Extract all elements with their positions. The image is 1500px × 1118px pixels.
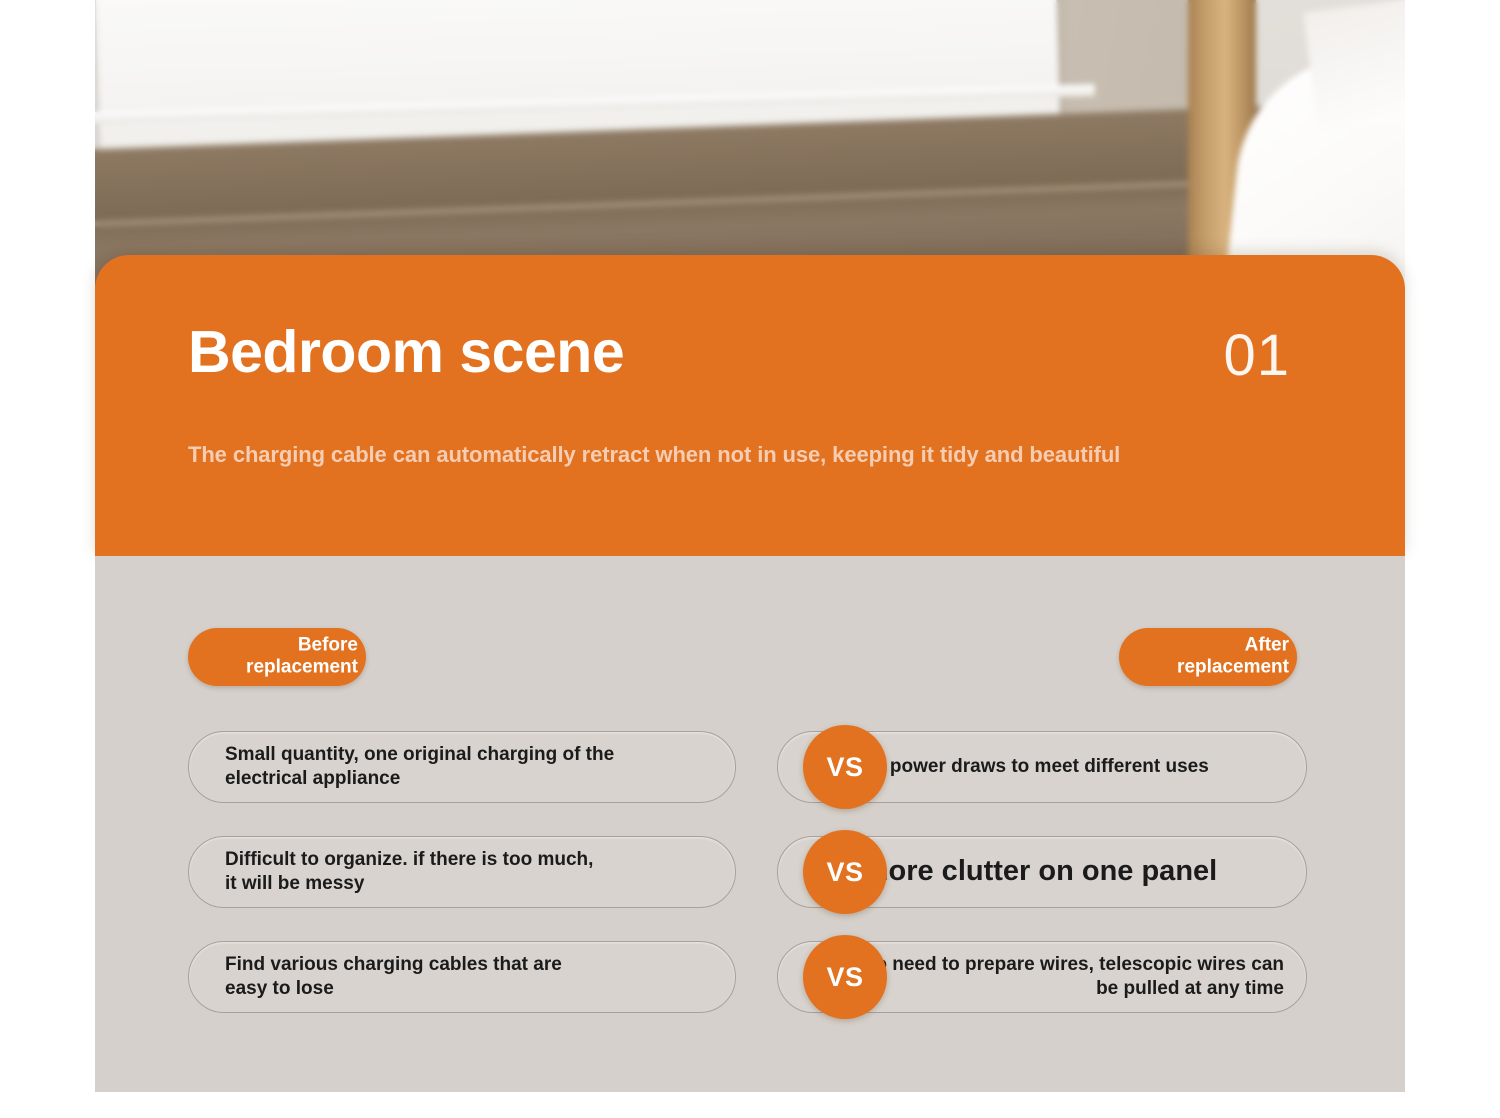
before-text: Small quantity, one original charging of…: [189, 743, 634, 792]
scene-number: 01: [1223, 327, 1290, 385]
photo-white-bedding: [1303, 0, 1405, 132]
comparison-row: Find various charging cables that are ea…: [95, 941, 1405, 1013]
comparison-row: Small quantity, one original charging of…: [95, 731, 1405, 803]
vs-badge: VS: [803, 725, 887, 809]
comparison-badges-row: Before replacement After replacement: [95, 628, 1405, 692]
before-capsule: Find various charging cables that are ea…: [188, 941, 736, 1013]
before-text: Difficult to organize. if there is too m…: [189, 848, 613, 897]
scene-header-panel: Bedroom scene 01 The charging cable can …: [95, 255, 1405, 556]
vs-badge: VS: [803, 830, 887, 914]
badge-after-replacement: After replacement: [1119, 628, 1297, 686]
comparison-row: Difficult to organize. if there is too m…: [95, 836, 1405, 908]
product-detail-page: Bedroom scene 01 The charging cable can …: [0, 0, 1500, 1118]
comparison-panel: Before replacement After replacement Sma…: [95, 556, 1405, 1092]
before-capsule: Small quantity, one original charging of…: [188, 731, 736, 803]
comparison-rows: Small quantity, one original charging of…: [95, 731, 1405, 1046]
before-text: Find various charging cables that are ea…: [189, 953, 582, 1002]
page-subtitle: The charging cable can automatically ret…: [188, 442, 1120, 468]
vs-badge: VS: [803, 935, 887, 1019]
badge-before-replacement: Before replacement: [188, 628, 366, 686]
before-capsule: Difficult to organize. if there is too m…: [188, 836, 736, 908]
badge-before-label: Before replacement: [202, 635, 358, 680]
page-title: Bedroom scene: [188, 323, 624, 382]
badge-after-label: After replacement: [1133, 635, 1289, 680]
